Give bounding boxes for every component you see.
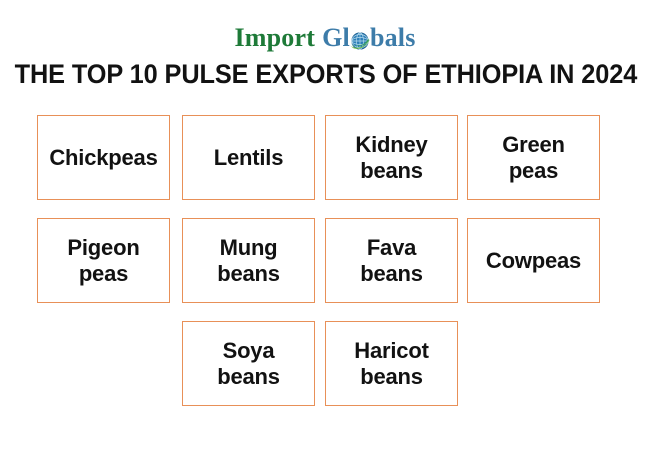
- brand-word-import: Import: [234, 23, 315, 53]
- pulse-card-label: Chickpeas: [49, 145, 157, 171]
- grid-row: Pigeon peas Mung beans Fava beans Cowpea…: [37, 218, 600, 303]
- page-title: THE TOP 10 PULSE EXPORTS OF ETHIOPIA IN …: [15, 59, 636, 90]
- pulse-card-pigeon-peas[interactable]: Pigeon peas: [37, 218, 170, 303]
- pulse-card-label: Soya beans: [217, 338, 280, 389]
- pulse-card-haricot-beans[interactable]: Haricot beans: [325, 321, 458, 406]
- pulse-card-label: Lentils: [214, 145, 284, 171]
- pulse-card-label: Cowpeas: [486, 248, 581, 274]
- pulse-card-fava-beans[interactable]: Fava beans: [325, 218, 458, 303]
- brand-logo: Import Gl bals: [0, 21, 650, 55]
- pulse-card-label: Pigeon peas: [67, 235, 139, 286]
- globe-icon: [349, 30, 371, 52]
- pulse-card-cowpeas[interactable]: Cowpeas: [467, 218, 600, 303]
- pulse-card-label: Fava beans: [360, 235, 423, 286]
- pulse-card-mung-beans[interactable]: Mung beans: [182, 218, 315, 303]
- pulse-card-chickpeas[interactable]: Chickpeas: [37, 115, 170, 200]
- pulse-card-label: Haricot beans: [354, 338, 428, 389]
- pulse-card-label: Green peas: [502, 132, 565, 183]
- pulse-grid: Chickpeas Lentils Kidney beans Green pea…: [37, 115, 600, 406]
- brand-word-gl: Gl: [322, 23, 350, 53]
- pulse-card-kidney-beans[interactable]: Kidney beans: [325, 115, 458, 200]
- pulse-card-lentils[interactable]: Lentils: [182, 115, 315, 200]
- pulse-card-soya-beans[interactable]: Soya beans: [182, 321, 315, 406]
- pulse-card-green-peas[interactable]: Green peas: [467, 115, 600, 200]
- grid-row: Soya beans Haricot beans: [37, 321, 600, 406]
- grid-row: Chickpeas Lentils Kidney beans Green pea…: [37, 115, 600, 200]
- brand-word-bals: bals: [370, 23, 416, 53]
- pulse-card-label: Mung beans: [217, 235, 280, 286]
- pulse-card-label: Kidney beans: [355, 132, 427, 183]
